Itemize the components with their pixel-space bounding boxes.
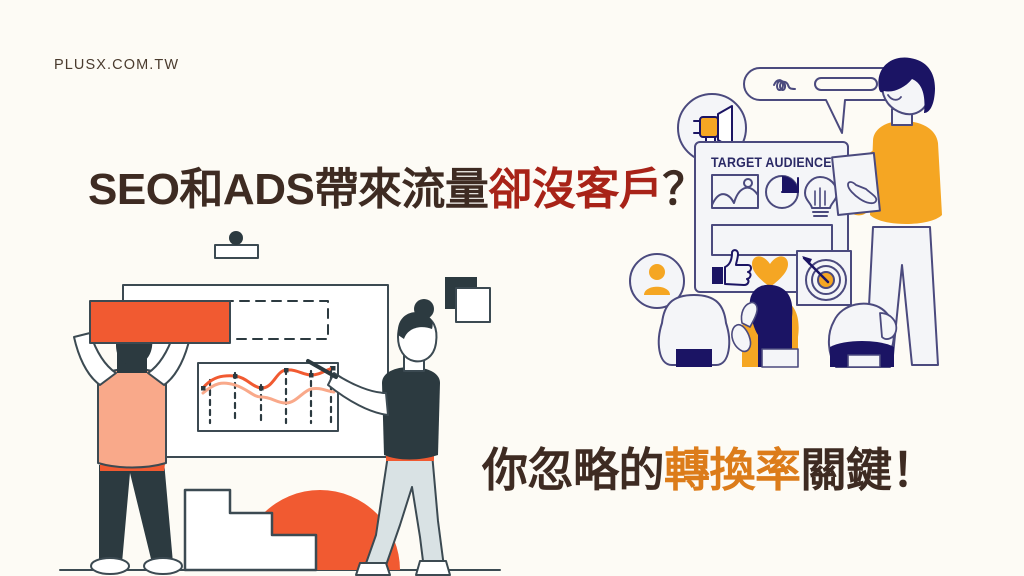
audience-member-center [732,285,799,367]
analytics-team-illustration [60,225,500,576]
headline-top: SEO和ADS帶來流量卻沒客戶？ [88,153,706,217]
headline-top-part1: SEO和ADS帶來流量 [88,165,488,214]
headline-bottom: 你忽略的轉換率關鍵！ [482,434,937,500]
slide-canvas: PLUSX.COM.TW SEO和ADS帶來流量卻沒客戶？ 你忽略的轉換率關鍵！ [0,0,1024,576]
target-audience-presentation-illustration: TARGET AUDIENCE [630,55,1000,415]
headline-bottom-part3: 關鍵！ [801,444,938,496]
pie-chart-icon [766,176,798,208]
brand-watermark: PLUSX.COM.TW [54,57,179,73]
headline-bottom-part2: 轉換率 [664,444,801,496]
audience-figures [659,285,896,367]
target-audience-board: TARGET AUDIENCE [695,142,851,305]
stacked-squares [445,277,490,322]
orange-banner [90,301,230,343]
pin-marker [215,231,258,258]
line-chart-frame [198,363,338,431]
board-title: TARGET AUDIENCE [711,155,832,171]
headline-bottom-part1: 你忽略的 [482,444,664,496]
audience-member-left [659,295,729,367]
audience-member-right [829,304,896,367]
target-arrow-icon [797,251,851,305]
image-frame-icon [712,175,758,208]
